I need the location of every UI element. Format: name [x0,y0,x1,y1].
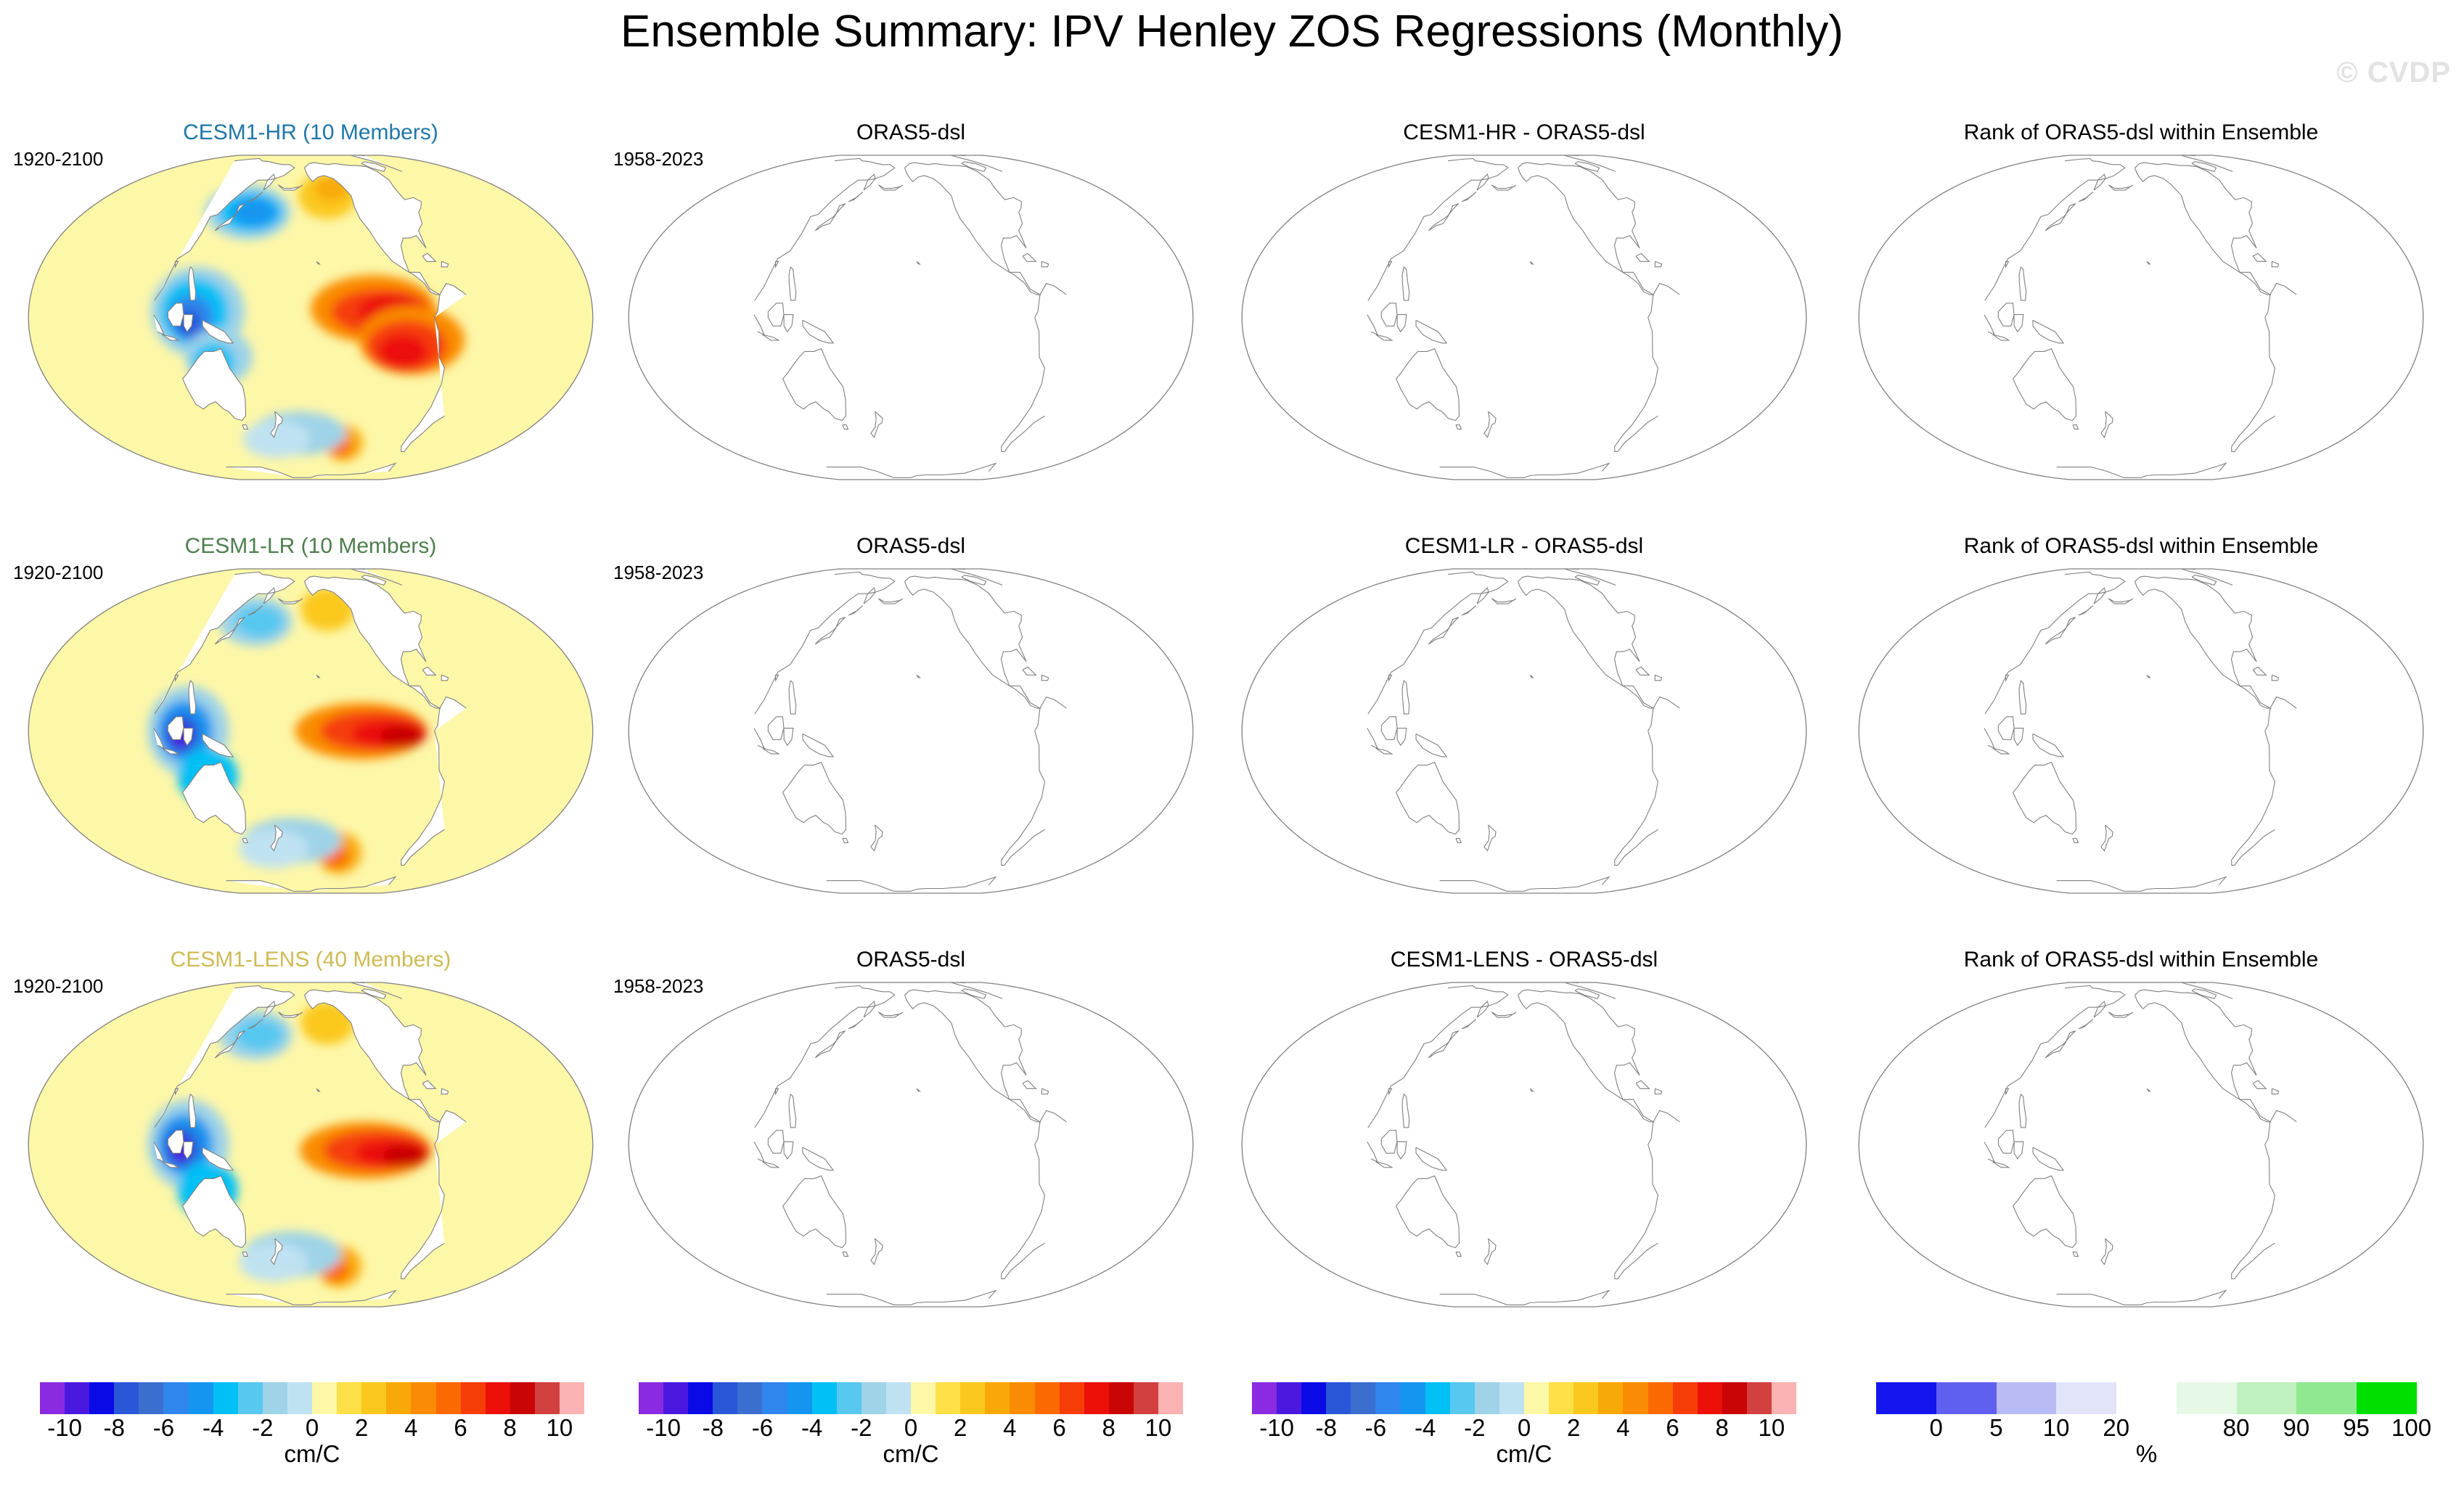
map-graphic [1237,566,1811,896]
panel-r1-c4: Rank of ORAS5-dsl within Ensemble [1843,122,2439,483]
colorbar-tick: -8 [104,1416,125,1440]
colorbar-tick: 0 [1518,1416,1531,1440]
colorbar-tick: -2 [1464,1416,1485,1440]
colorbar-1: -10-8-6-4-20246810cm/C [40,1382,584,1446]
colorbar-unit-label: cm/C [1252,1442,1796,1466]
map-panel[interactable] [624,152,1198,483]
map-graphic [624,152,1198,483]
colorbar-swatch [1936,1382,1997,1414]
map-panel[interactable] [1237,980,1811,1310]
colorbar-swatch [1722,1382,1747,1414]
colorbar-swatch [713,1382,737,1414]
colorbar-tick: 6 [454,1416,467,1440]
colorbar-tick: -2 [851,1416,872,1440]
colorbar-tick: -4 [801,1416,822,1440]
colorbar-swatch [1524,1382,1549,1414]
colorbar-tick: 20 [2103,1416,2129,1440]
colorbar-swatch [911,1382,936,1414]
colorbar-swatch [1277,1382,1301,1414]
colorbar-swatch [663,1382,688,1414]
colorbar-tick: 90 [2283,1416,2310,1440]
panel-title: CESM1-HR - ORAS5-dsl [1227,122,1822,144]
colorbar-swatch [762,1382,787,1414]
panel-r1-c3: CESM1-HR - ORAS5-dsl [1227,122,1822,483]
colorbar-swatch [1648,1382,1673,1414]
colorbar-tick: 10 [1759,1416,1785,1440]
colorbar-swatch [89,1382,114,1414]
map-graphic [1237,152,1811,483]
colorbar-swatch [2237,1382,2297,1414]
colorbar-swatch [787,1382,812,1414]
colorbar-swatch [1673,1382,1698,1414]
colorbar-swatch [985,1382,1010,1414]
colorbar-swatch [886,1382,911,1414]
colorbar-swatch [436,1382,461,1414]
colorbar-tick: 10 [2043,1416,2070,1440]
colorbar-swatch [461,1382,486,1414]
colorbar-tick: 0 [306,1416,319,1440]
colorbar-swatch [1450,1382,1475,1414]
colorbar-swatch [312,1382,337,1414]
panel-title: CESM1-LENS (40 Members) [13,949,608,971]
colorbar-swatch [386,1382,411,1414]
colorbar-swatch [1301,1382,1326,1414]
panel-r3-c1: CESM1-LENS (40 Members)1920-2100 [13,949,608,1310]
colorbar-tick: -6 [752,1416,773,1440]
colorbar-strip [639,1382,1183,1414]
colorbar-swatch [2177,1382,2237,1414]
colorbar-tick: -2 [252,1416,273,1440]
panel-r3-c2: ORAS5-dsl1958-2023 [613,949,1208,1310]
colorbar-swatch [1252,1382,1277,1414]
colorbar-swatch [1158,1382,1183,1414]
colorbar-swatch [737,1382,762,1414]
colorbar-swatch [1573,1382,1598,1414]
colorbar-swatch [639,1382,663,1414]
map-graphic [24,980,597,1310]
colorbar-swatch [114,1382,139,1414]
colorbar-strip [1876,1382,2417,1414]
colorbar-tick: 2 [1567,1416,1580,1440]
colorbar-swatch [2056,1382,2116,1414]
colorbar-swatch [65,1382,89,1414]
colorbar-tick: -6 [153,1416,174,1440]
colorbar-swatch [861,1382,886,1414]
colorbar-tick: -8 [1316,1416,1337,1440]
colorbar-swatch [1997,1382,2057,1414]
colorbar-swatch [287,1382,312,1414]
colorbar-tick: -8 [703,1416,724,1440]
colorbar-swatch [560,1382,584,1414]
map-panel[interactable] [1854,566,2428,896]
panel-title: CESM1-HR (10 Members) [13,122,608,144]
colorbar-strip [1252,1382,1796,1414]
panel-r2-c1: CESM1-LR (10 Members)1920-2100 [13,535,608,896]
colorbar-swatch [1772,1382,1796,1414]
panel-r1-c2: ORAS5-dsl1958-2023 [613,122,1208,483]
colorbar-swatch [510,1382,535,1414]
colorbar-swatch [1598,1382,1623,1414]
map-panel[interactable] [624,980,1198,1310]
panel-title: ORAS5-dsl [613,949,1208,971]
colorbar-tick: -4 [202,1416,224,1440]
map-panel[interactable] [1854,980,2428,1310]
map-panel[interactable] [1237,566,1811,896]
colorbar-swatch [361,1382,386,1414]
colorbar-tick: 4 [1616,1416,1629,1440]
map-panel[interactable] [1854,152,2428,483]
panel-r3-c3: CESM1-LENS - ORAS5-dsl [1227,949,1822,1310]
colorbar-tick: -10 [646,1416,681,1440]
panel-title: ORAS5-dsl [613,535,1208,557]
panel-r2-c4: Rank of ORAS5-dsl within Ensemble [1843,535,2439,896]
colorbar-swatch [688,1382,713,1414]
colorbar-swatch [1010,1382,1034,1414]
colorbar-unit-label: % [1876,1442,2417,1466]
colorbar-swatch [2357,1382,2417,1414]
colorbar-swatch [1425,1382,1450,1414]
colorbar-swatch [1401,1382,1425,1414]
panel-r2-c2: ORAS5-dsl1958-2023 [613,535,1208,896]
map-graphic [1237,980,1811,1310]
colorbar-3: -10-8-6-4-20246810cm/C [1252,1382,1796,1446]
colorbar-swatch [1060,1382,1084,1414]
map-panel[interactable] [1237,152,1811,483]
colorbar-tick: -4 [1415,1416,1436,1440]
cvdp-watermark: © CVDP [2336,57,2451,89]
panel-title: CESM1-LR - ORAS5-dsl [1227,535,1822,557]
panel-r2-c3: CESM1-LR - ORAS5-dsl [1227,535,1822,896]
colorbar-swatch [486,1382,510,1414]
map-panel[interactable] [24,152,597,483]
colorbar-2: -10-8-6-4-20246810cm/C [639,1382,1183,1446]
colorbar-4: 051020809095100% [1876,1382,2417,1446]
colorbar-swatch [337,1382,361,1414]
colorbar-swatch [2296,1382,2357,1414]
map-graphic [624,566,1198,896]
map-panel[interactable] [24,980,597,1310]
colorbar-swatch [1375,1382,1400,1414]
colorbar-swatch [812,1382,837,1414]
colorbar-swatch [1326,1382,1351,1414]
colorbar-swatch [2116,1382,2177,1414]
map-graphic [1854,152,2428,483]
colorbar-swatch [1747,1382,1772,1414]
map-graphic [1854,980,2428,1310]
colorbar-tick: 8 [504,1416,517,1440]
colorbar-swatch [1698,1382,1722,1414]
panel-title: CESM1-LENS - ORAS5-dsl [1227,949,1822,971]
panel-title: Rank of ORAS5-dsl within Ensemble [1843,949,2439,971]
colorbar-strip [40,1382,584,1414]
colorbar-swatch [535,1382,560,1414]
colorbar-swatch [960,1382,985,1414]
colorbar-swatch [1623,1382,1648,1414]
colorbar-swatch [1084,1382,1109,1414]
colorbar-swatch [1549,1382,1573,1414]
colorbar-tick: 100 [2391,1416,2431,1440]
colorbar-swatch [263,1382,287,1414]
colorbar-swatch [1035,1382,1060,1414]
colorbar-tick: 0 [1930,1416,1943,1440]
colorbar-swatch [163,1382,188,1414]
colorbar-swatch [40,1382,65,1414]
panel-r1-c1: CESM1-HR (10 Members)1920-2100 [13,122,608,483]
colorbar-swatch [1351,1382,1375,1414]
panel-title: CESM1-LR (10 Members) [13,535,608,557]
map-graphic [1854,566,2428,896]
colorbar-tick: 80 [2223,1416,2250,1440]
map-graphic [24,566,597,896]
panel-title: Rank of ORAS5-dsl within Ensemble [1843,535,2439,557]
colorbar-swatch [238,1382,263,1414]
colorbar-unit-label: cm/C [40,1442,584,1466]
panel-title: ORAS5-dsl [613,122,1208,144]
colorbar-tick: 4 [404,1416,417,1440]
colorbar-swatch [189,1382,213,1414]
map-panel[interactable] [624,566,1198,896]
colorbar-tick: 95 [2343,1416,2370,1440]
colorbar-tick: -6 [1365,1416,1386,1440]
colorbar-swatch [1134,1382,1158,1414]
colorbar-swatch [139,1382,163,1414]
colorbar-swatch [1475,1382,1499,1414]
panel-title: Rank of ORAS5-dsl within Ensemble [1843,122,2439,144]
colorbar-swatch [936,1382,960,1414]
colorbar-swatch [1499,1382,1524,1414]
colorbar-tick: 5 [1989,1416,2002,1440]
colorbar-tick: 6 [1052,1416,1065,1440]
colorbar-swatch [1109,1382,1134,1414]
colorbar-tick: 10 [1145,1416,1172,1440]
colorbar-tick: 10 [547,1416,573,1440]
page-title: Ensemble Summary: IPV Henley ZOS Regress… [0,6,2464,57]
panel-r3-c4: Rank of ORAS5-dsl within Ensemble [1843,949,2439,1310]
colorbar-unit-label: cm/C [639,1442,1183,1466]
map-panel[interactable] [24,566,597,896]
colorbar-swatch [213,1382,238,1414]
colorbar-tick: 4 [1003,1416,1016,1440]
colorbar-tick: 8 [1716,1416,1729,1440]
colorbar-tick: -10 [47,1416,82,1440]
colorbar-swatch [837,1382,861,1414]
colorbar-swatch [411,1382,435,1414]
colorbar-tick: 2 [355,1416,368,1440]
colorbar-tick: 2 [954,1416,967,1440]
colorbar-tick: 0 [904,1416,917,1440]
map-graphic [24,152,597,483]
colorbar-tick: 6 [1666,1416,1679,1440]
colorbar-swatch [1876,1382,1936,1414]
colorbar-tick: -10 [1259,1416,1294,1440]
map-graphic [624,980,1198,1310]
colorbar-tick: 8 [1102,1416,1116,1440]
